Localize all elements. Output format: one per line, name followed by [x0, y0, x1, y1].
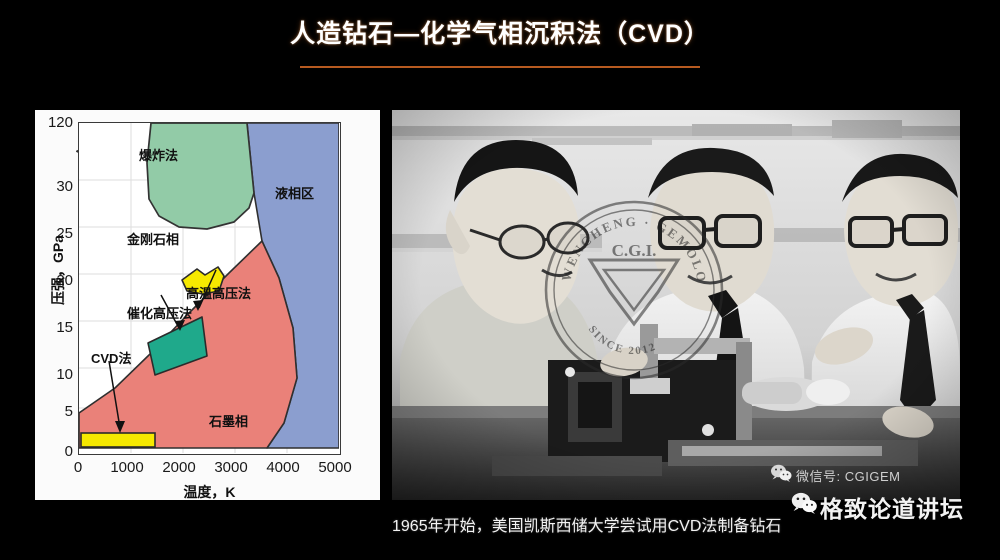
title-divider: [300, 66, 700, 68]
label-explosion: 爆炸法: [139, 145, 178, 164]
photo-caption: 1965年开始，美国凯斯西储大学尝试用CVD法制备钻石: [392, 512, 892, 536]
region-explosion: [147, 123, 254, 229]
plot-area: 爆炸法 液相区 金刚石相 石墨相 高温高压法 催化高压法 CVD法: [78, 122, 341, 455]
wechat-id-label: 微信号: CGIGEM: [796, 466, 900, 485]
brand-watermark: 格致论道讲坛: [820, 490, 964, 524]
x-tick-5000: 5000: [305, 459, 365, 476]
y-tick-120: 120: [33, 114, 73, 131]
historical-photo: WENCHENG · GEMOLOGICAL · INSTITUTE SINCE…: [392, 110, 960, 500]
y-tick-15: 15: [33, 319, 73, 336]
y-tick-5: 5: [33, 403, 73, 420]
x-tick-2000: 2000: [149, 459, 209, 476]
y-tick-10: 10: [33, 366, 73, 383]
page-title: 人造钻石—化学气相沉积法（CVD）: [0, 14, 1000, 50]
x-tick-4000: 4000: [253, 459, 313, 476]
label-liquid-phase: 液相区: [275, 183, 314, 202]
y-axis-title: 压强，GPa: [48, 225, 68, 315]
x-tick-3000: 3000: [201, 459, 261, 476]
label-graphite: 石墨相: [209, 411, 248, 430]
callout-cvd: CVD法: [91, 348, 131, 367]
callout-catalytic: 催化高压法: [127, 303, 192, 322]
wechat-icon: [770, 464, 792, 482]
x-axis-title: 温度，K: [78, 482, 341, 502]
label-diamond-phase: 金刚石相: [127, 229, 179, 248]
slide-root: 人造钻石—化学气相沉积法（CVD） 120 30 25 20 15 10 5 0…: [0, 0, 1000, 560]
y-tick-0: 0: [33, 443, 73, 460]
x-tick-1000: 1000: [97, 459, 157, 476]
region-cvd: [81, 433, 155, 447]
wechat-icon-brand: [790, 492, 818, 514]
phase-diagram-panel: 120 30 25 20 15 10 5 0 ≪ 压强，GPa 0 1000 2…: [35, 110, 380, 500]
slide-header: 人造钻石—化学气相沉积法（CVD）: [0, 0, 1000, 88]
callout-hpht: 高温高压法: [186, 283, 251, 302]
y-tick-30: 30: [33, 178, 73, 195]
photo-illustration: WENCHENG · GEMOLOGICAL · INSTITUTE SINCE…: [392, 110, 960, 500]
